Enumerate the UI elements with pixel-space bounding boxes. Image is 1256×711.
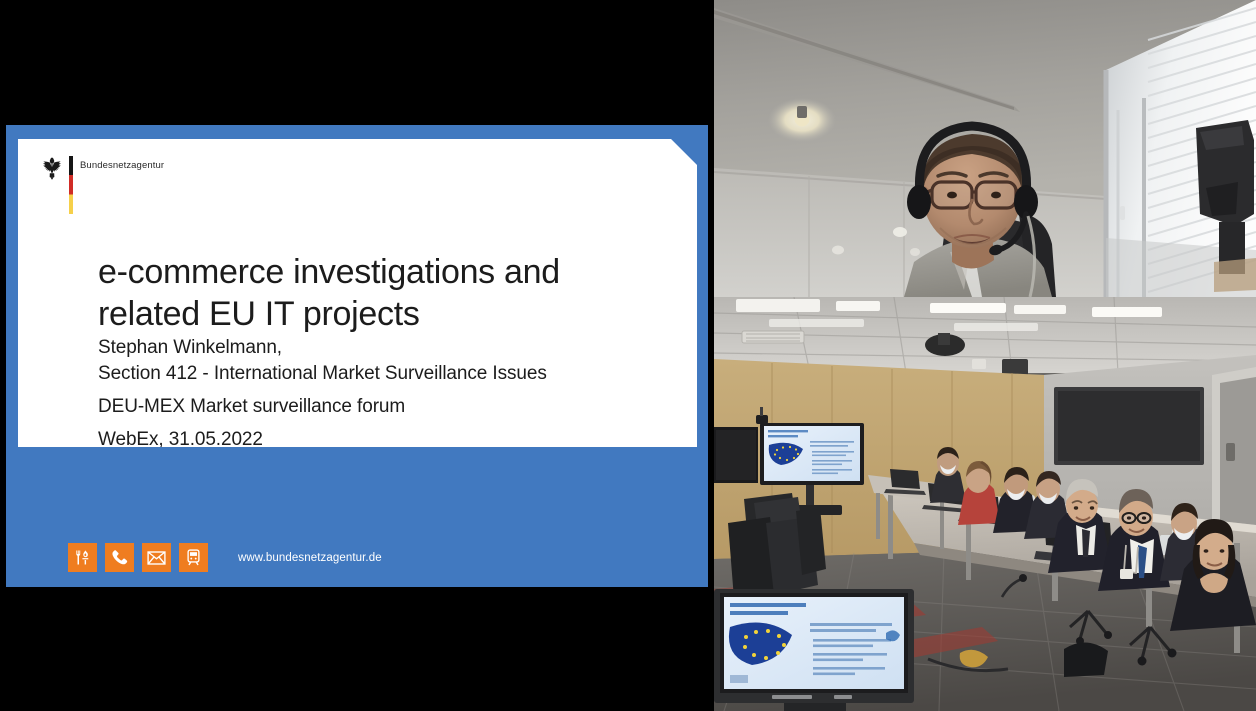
electricity-gas-icon	[68, 543, 97, 572]
speaker-video-tile[interactable]	[714, 0, 1256, 297]
slide-title-line-2: related EU IT projects	[98, 293, 678, 335]
federal-eagle-icon	[41, 156, 63, 180]
meeting-stage: Bundesnetzagentur e-commerce investigati…	[0, 0, 1256, 711]
slide-section: Section 412 - International Market Surve…	[98, 361, 678, 387]
organization-name: Bundesnetzagentur	[80, 156, 164, 172]
website-url[interactable]: www.bundesnetzagentur.de	[238, 552, 382, 564]
envelope-icon	[142, 543, 171, 572]
bundesnetzagentur-logo: Bundesnetzagentur	[41, 156, 164, 214]
conference-room-video-frame	[714, 297, 1256, 711]
foreground-monitor	[714, 589, 914, 711]
presentation-slide: Bundesnetzagentur e-commerce investigati…	[6, 125, 708, 587]
railway-icon	[179, 543, 208, 572]
slide-corner-fold	[671, 139, 697, 165]
screen-share-region: Bundesnetzagentur e-commerce investigati…	[0, 0, 710, 711]
slide-text-block: e-commerce investigations and related EU…	[98, 251, 678, 447]
german-flag-bar	[69, 156, 73, 214]
speaker-video-frame	[714, 0, 1256, 297]
conference-room-video-tile[interactable]	[714, 297, 1256, 711]
slide-footer: www.bundesnetzagentur.de	[68, 543, 382, 572]
slide-event: DEU-MEX Market surveillance forum	[98, 394, 678, 420]
slide-platform-date: WebEx, 31.05.2022	[98, 427, 678, 447]
slide-title-line-1: e-commerce investigations and	[98, 251, 678, 293]
slide-content-panel: Bundesnetzagentur e-commerce investigati…	[18, 139, 697, 447]
slide-presenter: Stephan Winkelmann,	[98, 335, 678, 361]
telephone-icon	[105, 543, 134, 572]
